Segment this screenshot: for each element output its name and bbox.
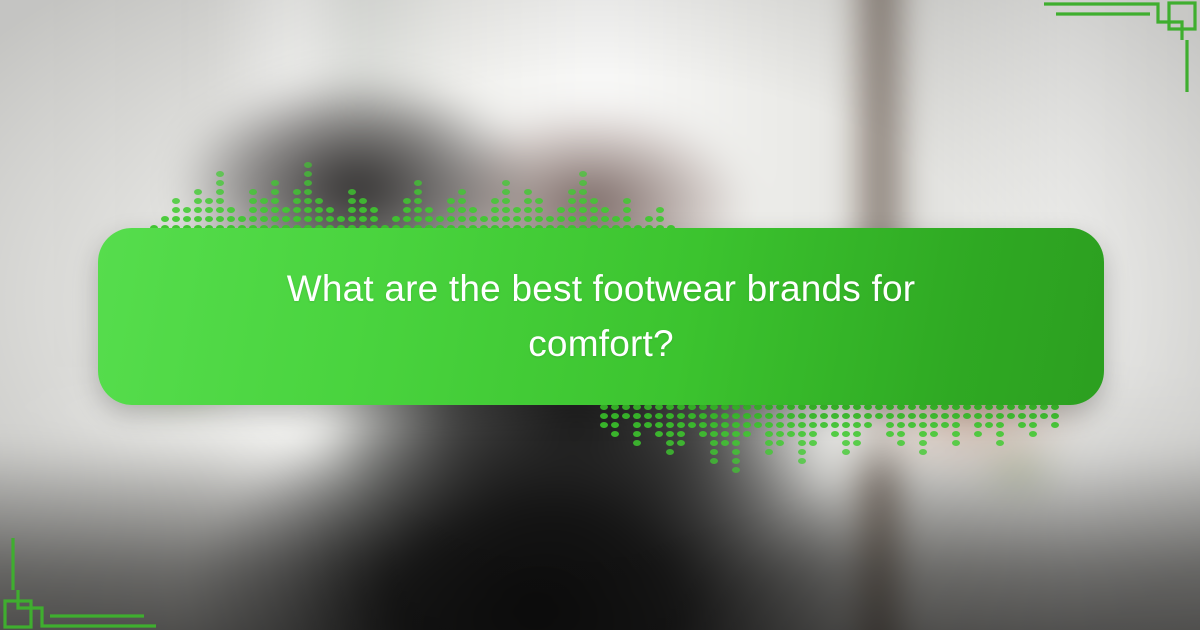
question-card[interactable]: What are the best footwear brands for co…: [98, 228, 1104, 405]
share-card-canvas: What are the best footwear brands for co…: [0, 0, 1200, 630]
circuit-corner-top-right-icon: [1030, 0, 1200, 125]
circuit-corner-bottom-left-icon: [0, 505, 170, 630]
question-text: What are the best footwear brands for co…: [266, 262, 936, 372]
